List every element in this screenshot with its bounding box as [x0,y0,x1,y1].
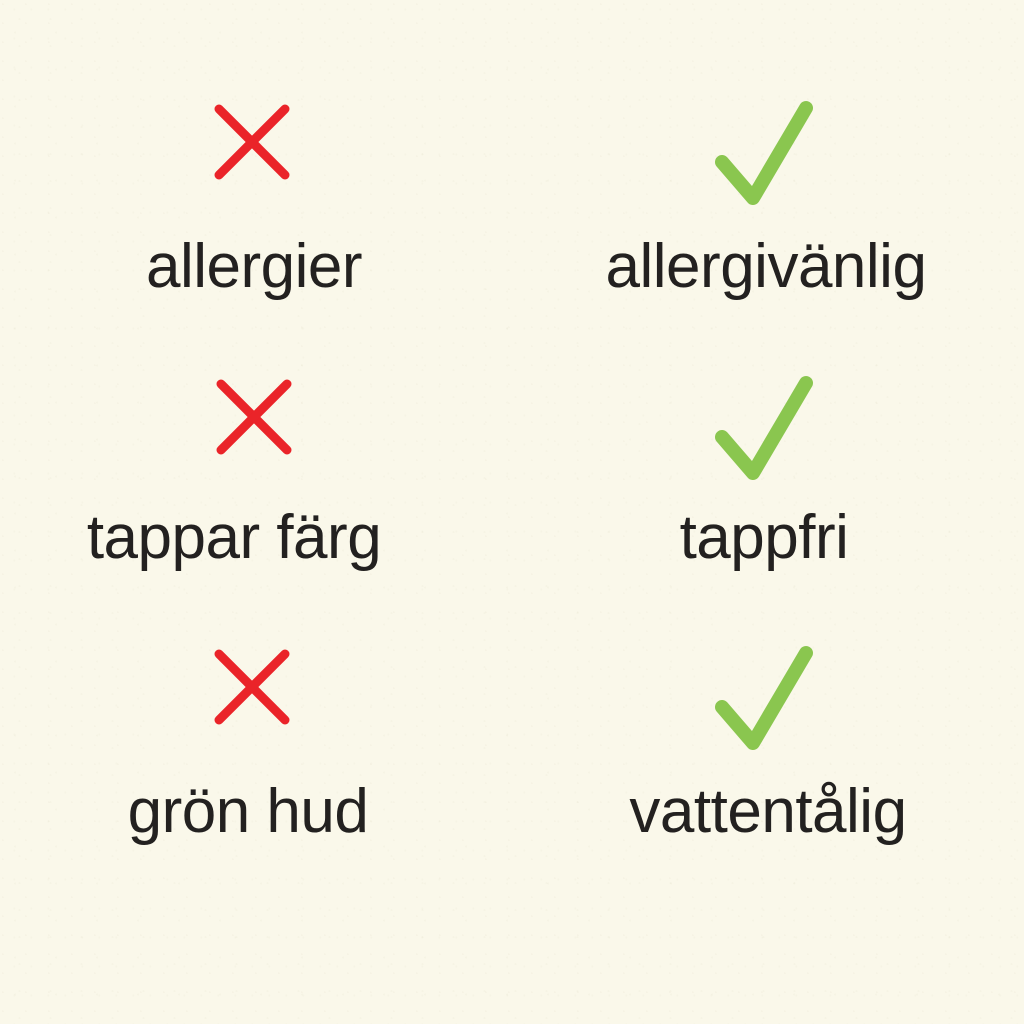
positive-item: vattentålig [528,645,1024,875]
negative-item: tappar färg [0,375,528,595]
check-icon [712,645,816,755]
check-icon [712,100,816,210]
positive-label: allergivänlig [606,236,927,298]
cross-icon [210,100,294,210]
comparison-row: tappar färg tappfri [0,375,1024,595]
positive-label: tappfri [680,507,849,569]
positive-item: tappfri [528,375,1024,595]
comparison-grid: allergier allergivänlig tappar färg [0,0,1024,1024]
positive-item: allergivänlig [528,100,1024,320]
comparison-row: allergier allergivänlig [0,100,1024,320]
comparison-row: grön hud vattentålig [0,645,1024,875]
negative-label: tappar färg [87,507,381,569]
positive-label: vattentålig [629,781,906,843]
check-icon [712,375,816,485]
negative-label: grön hud [128,781,369,843]
negative-label: allergier [146,236,362,298]
cross-icon [210,645,294,755]
negative-item: grön hud [0,645,528,875]
cross-icon [212,375,296,485]
negative-item: allergier [0,100,528,320]
